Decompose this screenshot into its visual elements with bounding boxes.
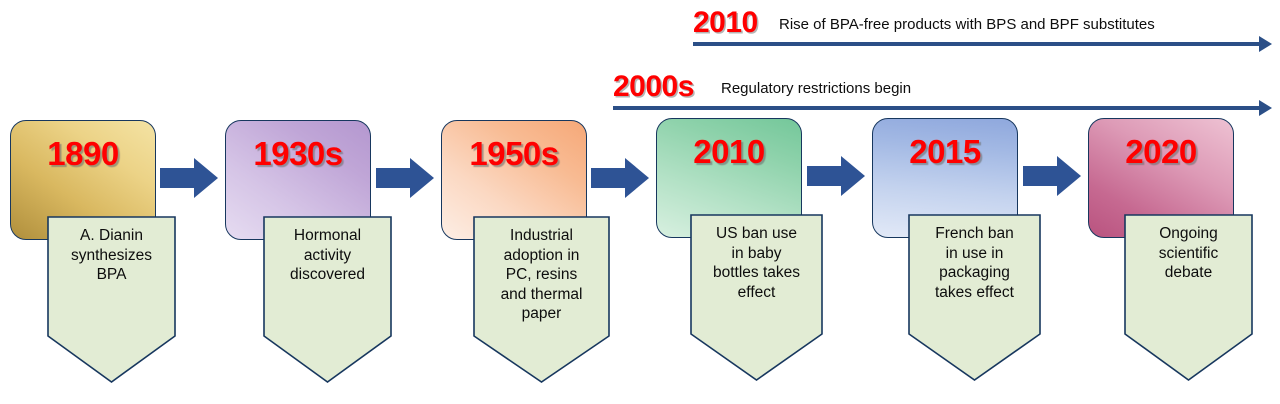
callout-text: US ban use in baby bottles takes effect bbox=[690, 224, 823, 302]
callout-2015[interactable]: French ban in use in packaging takes eff… bbox=[908, 214, 1037, 381]
arrow-tip-icon bbox=[625, 158, 649, 198]
annotation-axis-line bbox=[613, 106, 1261, 110]
arrow-head-icon bbox=[1259, 100, 1272, 116]
callout-1950s[interactable]: Industrial adoption in PC, resins and th… bbox=[473, 216, 602, 383]
callout-line: activity bbox=[268, 246, 387, 266]
connector-arrow-2 bbox=[376, 158, 434, 198]
callout-line: US ban use bbox=[695, 224, 818, 244]
annotation-year: 2000s bbox=[613, 72, 694, 102]
callout-2010[interactable]: US ban use in baby bottles takes effect bbox=[690, 214, 819, 381]
annotation-row-2010: 2010 Rise of BPA-free products with BPS … bbox=[693, 8, 1280, 64]
callout-line: Ongoing bbox=[1129, 224, 1248, 244]
annotation-axis-line bbox=[693, 42, 1261, 46]
callout-1930s[interactable]: Hormonal activity discovered bbox=[263, 216, 392, 383]
timeline-diagram: 2010 Rise of BPA-free products with BPS … bbox=[0, 0, 1280, 404]
connector-arrow-3 bbox=[591, 158, 649, 198]
milestone-year: 1890 bbox=[11, 135, 155, 173]
callout-line: paper bbox=[478, 304, 605, 324]
callout-line: in use in bbox=[913, 244, 1036, 264]
annotation-text: Regulatory restrictions begin bbox=[721, 80, 911, 98]
callout-line: synthesizes bbox=[52, 246, 171, 266]
connector-arrow-5 bbox=[1023, 156, 1081, 196]
callout-line: bottles takes bbox=[695, 263, 818, 283]
milestone-year: 1930s bbox=[226, 135, 370, 173]
callout-line: adoption in bbox=[478, 246, 605, 266]
callout-line: in baby bbox=[695, 244, 818, 264]
arrow-shaft bbox=[160, 168, 196, 188]
callout-text: French ban in use in packaging takes eff… bbox=[908, 224, 1041, 302]
arrow-shaft bbox=[376, 168, 412, 188]
arrow-shaft bbox=[807, 166, 843, 186]
milestone-year: 2010 bbox=[657, 133, 801, 171]
callout-text: Ongoing scientific debate bbox=[1124, 224, 1253, 283]
callout-line: effect bbox=[695, 283, 818, 303]
callout-line: Industrial bbox=[478, 226, 605, 246]
callout-line: takes effect bbox=[913, 283, 1036, 303]
callout-line: discovered bbox=[268, 265, 387, 285]
callout-line: A. Dianin bbox=[52, 226, 171, 246]
callout-line: debate bbox=[1129, 263, 1248, 283]
callout-line: French ban bbox=[913, 224, 1036, 244]
callout-1890[interactable]: A. Dianin synthesizes BPA bbox=[47, 216, 176, 383]
callout-text: A. Dianin synthesizes BPA bbox=[47, 226, 176, 285]
callout-line: scientific bbox=[1129, 244, 1248, 264]
callout-line: and thermal bbox=[478, 285, 605, 305]
arrow-tip-icon bbox=[410, 158, 434, 198]
milestone-year: 2015 bbox=[873, 133, 1017, 171]
callout-text: Industrial adoption in PC, resins and th… bbox=[473, 226, 610, 324]
milestone-year: 1950s bbox=[442, 135, 586, 173]
callout-line: packaging bbox=[913, 263, 1036, 283]
connector-arrow-4 bbox=[807, 156, 865, 196]
callout-line: PC, resins bbox=[478, 265, 605, 285]
callout-text: Hormonal activity discovered bbox=[263, 226, 392, 285]
arrow-tip-icon bbox=[194, 158, 218, 198]
connector-arrow-1 bbox=[160, 158, 218, 198]
annotation-year: 2010 bbox=[693, 8, 758, 38]
milestone-year: 2020 bbox=[1089, 133, 1233, 171]
arrow-head-icon bbox=[1259, 36, 1272, 52]
arrow-tip-icon bbox=[1057, 156, 1081, 196]
callout-line: Hormonal bbox=[268, 226, 387, 246]
annotation-text: Rise of BPA-free products with BPS and B… bbox=[779, 16, 1155, 34]
callout-line: BPA bbox=[52, 265, 171, 285]
arrow-shaft bbox=[1023, 166, 1059, 186]
arrow-shaft bbox=[591, 168, 627, 188]
arrow-tip-icon bbox=[841, 156, 865, 196]
callout-2020[interactable]: Ongoing scientific debate bbox=[1124, 214, 1253, 381]
